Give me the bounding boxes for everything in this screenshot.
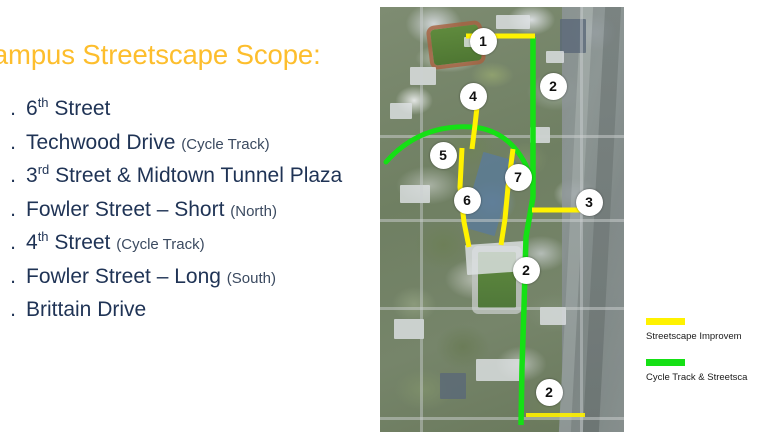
list-item-label: 6th Street	[26, 94, 378, 127]
list-item-number: .	[0, 94, 26, 125]
legend-label-streetscape: Streetscape Improvem	[646, 331, 768, 342]
list-item-ordinal-suffix: th	[38, 95, 49, 110]
legend-swatch-yellow-icon	[646, 318, 685, 325]
list-item-label: 3rd Street & Midtown Tunnel Plaza	[26, 161, 352, 194]
list-item: . 3rd Street & Midtown Tunnel Plaza	[0, 161, 352, 194]
list-item-note: (Cycle Track)	[116, 236, 204, 253]
list-item-label: Fowler Street – Long (South)	[26, 262, 378, 295]
list-item-number: .	[0, 128, 26, 159]
list-item-number: .	[0, 195, 26, 226]
map-marker-3[interactable]: 3	[576, 189, 603, 216]
list-item-name-rest: Street	[49, 231, 111, 254]
legend-label-cycle-track: Cycle Track & Streetsca	[646, 372, 768, 383]
route-techwood-drive-green	[521, 37, 533, 425]
map-marker-7[interactable]: 7	[505, 164, 532, 191]
slide-text-panel: t Campus Streetscape Scope: . 6th Street…	[0, 0, 378, 432]
list-item-name: Techwood Drive	[26, 131, 175, 154]
list-item-label: Techwood Drive (Cycle Track)	[26, 128, 378, 161]
list-item-number: .	[0, 295, 26, 326]
list-item-ordinal-suffix: th	[38, 229, 49, 244]
list-item-name-rest: Street	[49, 97, 111, 120]
route-overlay	[380, 7, 624, 432]
map-marker-6[interactable]: 6	[454, 187, 481, 214]
map-legend: Streetscape Improvem Cycle Track & Stree…	[646, 318, 768, 400]
list-item-note: (South)	[227, 270, 276, 287]
list-item-number: .	[0, 262, 26, 293]
list-item: . 4th Street (Cycle Track)	[0, 228, 378, 261]
list-item-name: 6	[26, 97, 38, 120]
list-item-note: (North)	[230, 203, 277, 220]
list-item-name: 3	[26, 164, 38, 187]
list-item-number: .	[0, 161, 26, 192]
list-item: . Techwood Drive (Cycle Track)	[0, 128, 378, 161]
list-item-number: .	[0, 228, 26, 259]
scope-list: . 6th Street . Techwood Drive (Cycle Tra…	[0, 94, 378, 329]
list-item: . Brittain Drive	[0, 295, 378, 328]
list-item: . 6th Street	[0, 94, 378, 127]
list-item: . Fowler Street – Short (North)	[0, 195, 378, 228]
list-item-name: Fowler Street – Short	[26, 198, 224, 221]
campus-aerial-map: 1 2 4 5 7 6 3 2 2	[380, 7, 624, 432]
map-marker-2-south[interactable]: 2	[536, 379, 563, 406]
map-marker-2-mid[interactable]: 2	[513, 257, 540, 284]
map-marker-1[interactable]: 1	[470, 28, 497, 55]
list-item-name: Fowler Street – Long	[26, 265, 221, 288]
legend-item-streetscape: Streetscape Improvem	[646, 318, 768, 342]
list-item-name: Brittain Drive	[26, 298, 146, 321]
route-brittain-drive-yellow	[501, 149, 513, 245]
legend-swatch-green-icon	[646, 359, 685, 366]
list-item-label: Fowler Street – Short (North)	[26, 195, 378, 228]
list-item-name-rest: Street & Midtown Tunnel Plaza	[49, 164, 342, 187]
list-item-note: (Cycle Track)	[181, 136, 269, 153]
legend-item-cycle-track: Cycle Track & Streetsca	[646, 359, 768, 383]
map-marker-5[interactable]: 5	[430, 142, 457, 169]
map-marker-2-north[interactable]: 2	[540, 73, 567, 100]
list-item-ordinal-suffix: rd	[38, 162, 50, 177]
page-title: t Campus Streetscape Scope:	[0, 39, 378, 71]
list-item-label: Brittain Drive	[26, 295, 378, 328]
map-marker-4[interactable]: 4	[460, 83, 487, 110]
list-item: . Fowler Street – Long (South)	[0, 262, 378, 295]
list-item-name: 4	[26, 231, 38, 254]
list-item-label: 4th Street (Cycle Track)	[26, 228, 378, 261]
